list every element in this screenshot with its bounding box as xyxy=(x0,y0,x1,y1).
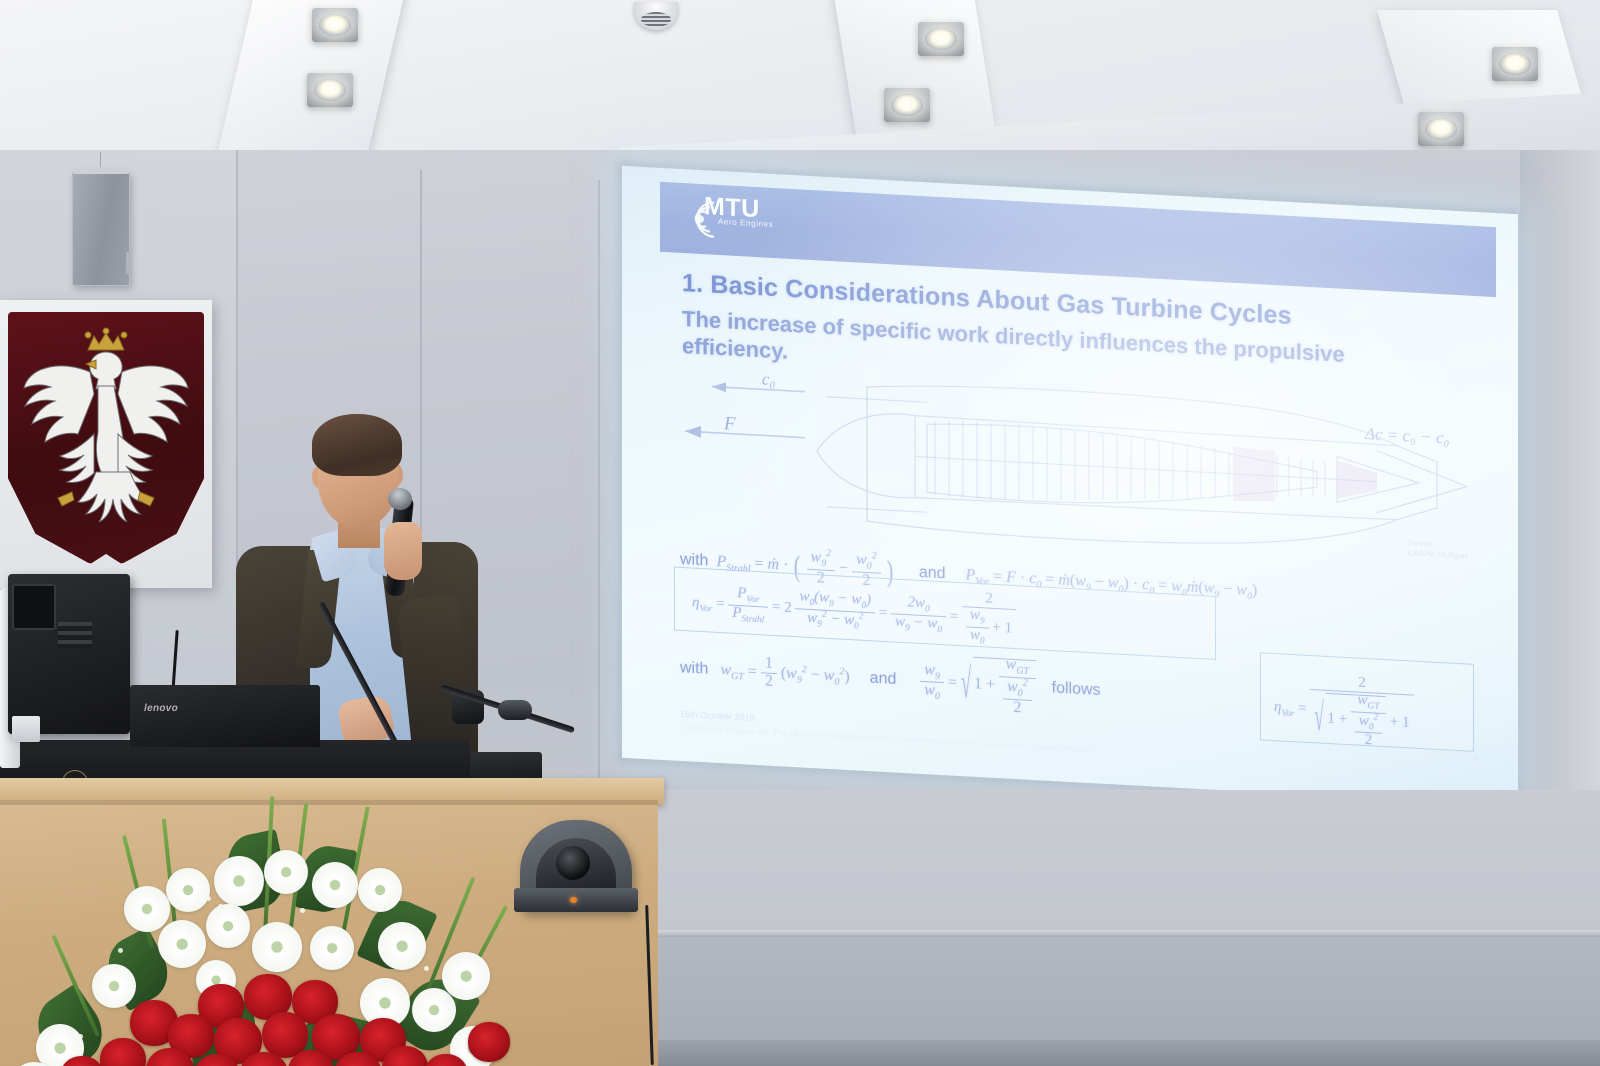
ceiling-spotlight-icon xyxy=(307,73,353,107)
slide-content: MTU Aero Engines 1. Basic Considerations… xyxy=(622,166,1518,807)
gypsophila xyxy=(290,958,295,963)
white-flower xyxy=(442,952,490,1000)
gypsophila xyxy=(300,908,305,913)
label-F: F xyxy=(724,413,736,436)
ceiling-spotlight-icon xyxy=(1492,47,1538,81)
white-flower xyxy=(358,868,402,912)
white-flower xyxy=(166,868,210,912)
white-flower xyxy=(310,926,354,970)
formula-follows: follows xyxy=(1052,679,1101,699)
white-eagle-icon xyxy=(20,326,192,522)
white-flower xyxy=(214,856,264,906)
source-line-1: Source: xyxy=(1407,538,1435,548)
white-flower xyxy=(312,862,358,908)
flower-arrangement xyxy=(0,808,620,1066)
lenovo-laptop[interactable]: lenovo xyxy=(130,685,320,747)
slide-footer-copyright: © MTU Aero Engines AG. The information c… xyxy=(680,723,1096,755)
hair xyxy=(312,414,402,476)
white-flower xyxy=(158,920,206,968)
projection-screen: MTU Aero Engines 1. Basic Considerations… xyxy=(622,166,1518,807)
label-c0: c₀ xyxy=(762,369,775,390)
polish-coat-of-arms xyxy=(0,300,212,588)
formula-row-3: with wGT = 12 (w92 − w02) and w9w0 = 1 +… xyxy=(680,639,1101,721)
boom-microphone-head-icon xyxy=(498,700,532,720)
formula-with-3: with xyxy=(680,659,708,678)
slide-page-number: 8 xyxy=(1474,752,1479,762)
gypsophila xyxy=(218,904,223,909)
formula-and-3: and xyxy=(870,669,897,687)
presentation-room-photo: MTU Aero Engines 1. Basic Considerations… xyxy=(0,0,1600,1066)
ceiling-spotlight-icon xyxy=(918,22,964,56)
source-line-2: ILA/UNI Stuttgart xyxy=(1407,548,1467,560)
lenovo-logo: lenovo xyxy=(144,703,178,714)
monitor-ports xyxy=(58,622,92,648)
white-flower xyxy=(264,850,308,894)
hand-holding-microphone xyxy=(384,522,422,580)
ceiling-spotlight-icon xyxy=(1418,112,1464,146)
wall-speaker-icon xyxy=(72,172,130,286)
dado-rail xyxy=(640,930,1600,937)
podium-edge xyxy=(0,800,658,805)
red-flower xyxy=(100,1038,146,1066)
white-flower xyxy=(412,988,456,1032)
white-flower xyxy=(378,922,426,970)
floor xyxy=(640,1040,1600,1066)
gypsophila xyxy=(206,896,211,901)
ceiling-spotlight-icon xyxy=(884,88,930,122)
white-flower xyxy=(124,886,170,932)
gypsophila xyxy=(424,966,429,971)
gypsophila xyxy=(348,950,353,955)
ceiling-spotlight-icon xyxy=(312,8,358,42)
speaker-bracket xyxy=(126,252,130,274)
desk-cup xyxy=(12,716,40,742)
white-flower xyxy=(92,964,136,1008)
red-flower xyxy=(468,1022,510,1062)
wall-seam xyxy=(598,180,600,780)
gypsophila xyxy=(118,948,123,953)
gypsophila xyxy=(78,1034,83,1039)
white-flower xyxy=(252,922,302,972)
formula-eta-vor-2: ηVor = 2 1 + wGTw022 + 1 xyxy=(1274,671,1414,752)
dell-monitor xyxy=(8,574,130,734)
white-flower xyxy=(206,904,250,948)
slide-footer-date: 16th October 2018 xyxy=(680,709,755,723)
vesa-mount xyxy=(12,584,56,630)
diagram-source: Source: ILA/UNI Stuttgart xyxy=(1407,538,1467,561)
